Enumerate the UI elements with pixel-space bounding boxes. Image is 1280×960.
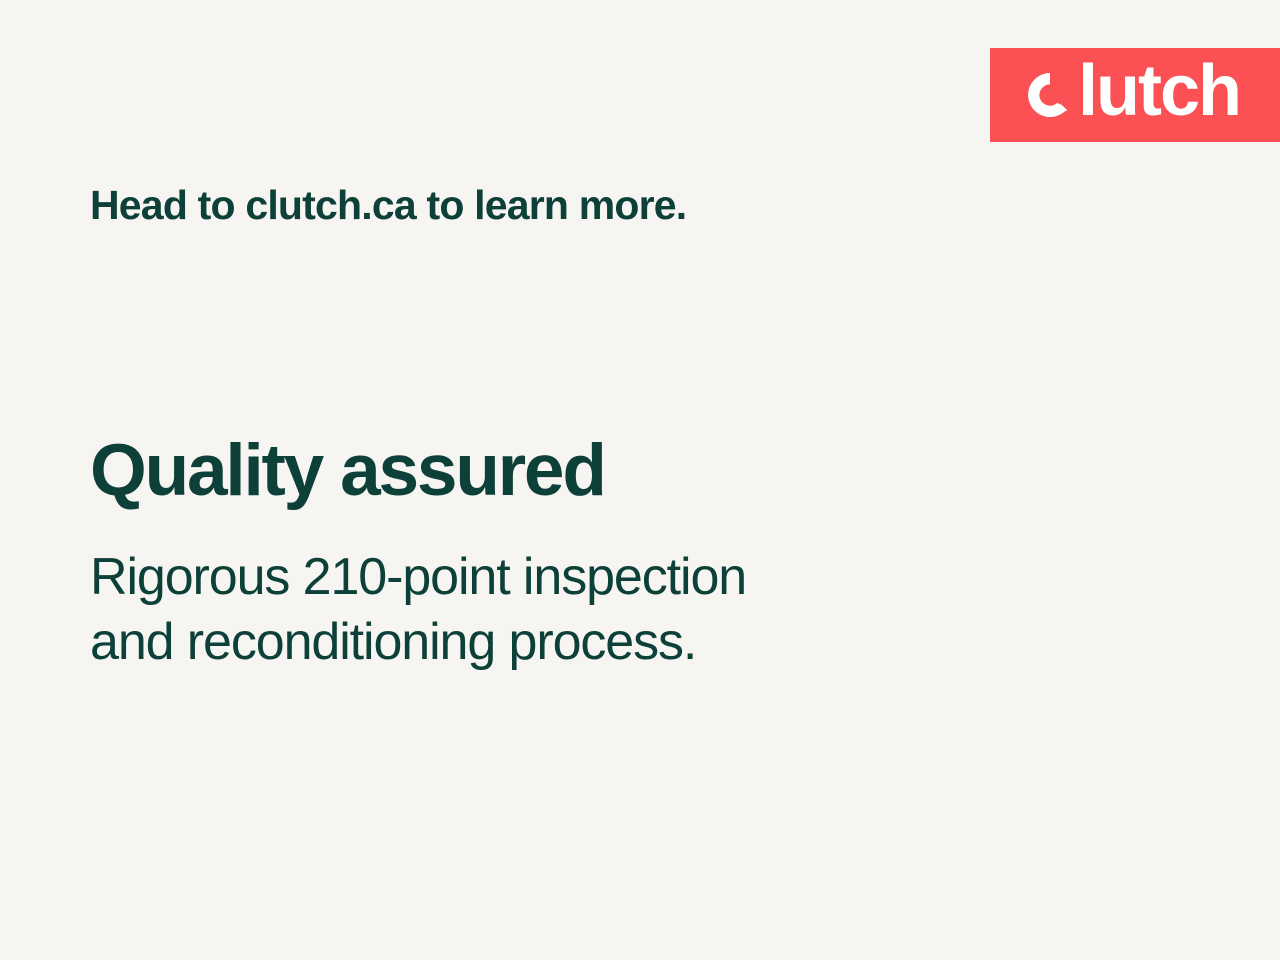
page-title: Quality assured (90, 433, 605, 510)
subheadline: Rigorous 210-point inspection and recond… (90, 545, 746, 675)
slide-canvas: lutch Head to clutch.ca to learn more. Q… (0, 0, 1280, 960)
clutch-c-mark-icon (1024, 69, 1076, 121)
subheadline-line-2: and reconditioning process. (90, 610, 746, 675)
subheadline-line-1: Rigorous 210-point inspection (90, 545, 746, 610)
eyebrow-text: Head to clutch.ca to learn more. (90, 182, 686, 229)
brand-lockup: lutch (1024, 59, 1240, 131)
clutch-brand-badge[interactable]: lutch (990, 48, 1280, 142)
brand-wordmark: lutch (1078, 55, 1240, 127)
